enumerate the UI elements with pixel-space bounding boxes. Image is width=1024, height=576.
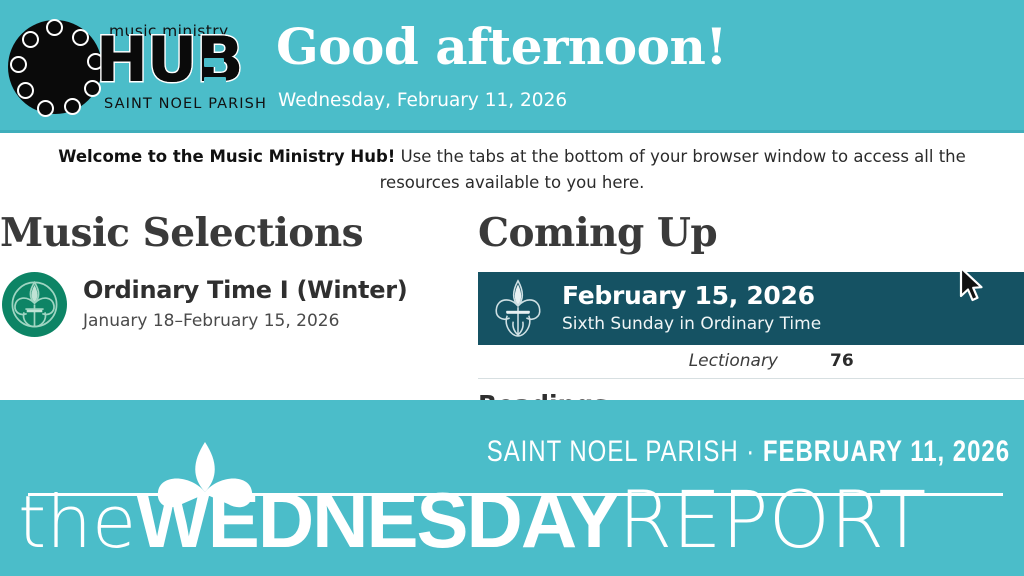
- greeting-title: Good afternoon!: [276, 18, 727, 76]
- wednesday-report-banner: SAINT NOEL PARISH · FEBRUARY 11, 2026 th…: [0, 400, 1024, 576]
- wordmark-the: the: [18, 480, 136, 564]
- table-row: Lectionary 76: [478, 345, 1024, 379]
- page-header: music ministry HUB HUB SAINT NOEL PARISH…: [0, 0, 1024, 133]
- rosary-circle-logo-icon: [8, 20, 102, 114]
- event-subtitle: Sixth Sunday in Ordinary Time: [562, 312, 821, 336]
- music-selections-title: Music Selections: [0, 210, 470, 256]
- wordmark-wednes: WEDNES: [136, 476, 466, 564]
- music-ministry-hub-page: music ministry HUB HUB SAINT NOEL PARISH…: [0, 0, 1024, 576]
- season-name: Ordinary Time I (Winter): [83, 275, 407, 305]
- coming-up-title: Coming Up: [478, 210, 1024, 256]
- fleur-de-lis-icon: [488, 276, 548, 342]
- event-date: February 15, 2026: [562, 281, 821, 311]
- wednesday-report-wordmark: theWEDNESDAYREPORT: [0, 400, 1024, 576]
- welcome-body: Use the tabs at the bottom of your brows…: [380, 147, 966, 192]
- detail-label: Lectionary: [478, 345, 806, 379]
- detail-value: 76: [806, 345, 1024, 379]
- greeting-date: Wednesday, February 11, 2026: [278, 90, 567, 111]
- upcoming-event-card[interactable]: February 15, 2026 Sixth Sunday in Ordina…: [478, 272, 1024, 345]
- event-detail-table: Lectionary 76: [478, 345, 1024, 379]
- music-selections-section: Music Selections: [0, 210, 470, 337]
- hub-logo[interactable]: music ministry HUB HUB SAINT NOEL PARISH: [4, 6, 250, 119]
- logo-parish-text: SAINT NOEL PARISH: [104, 96, 267, 112]
- wordmark-report: REPORT: [618, 476, 926, 566]
- season-dates: January 18–February 15, 2026: [83, 308, 407, 334]
- coming-up-section: Coming Up Fe: [478, 210, 1024, 379]
- hub-letter-accent-upper: [204, 58, 224, 67]
- welcome-message: Welcome to the Music Ministry Hub! Use t…: [0, 136, 1024, 196]
- fleur-de-lis-green-badge-icon: [2, 272, 67, 337]
- wordmark-day: DAY: [467, 476, 619, 564]
- welcome-lead: Welcome to the Music Ministry Hub!: [58, 147, 395, 166]
- season-row[interactable]: Ordinary Time I (Winter) January 18–Febr…: [0, 272, 470, 337]
- wordmark-text: theWEDNESDAYREPORT: [18, 478, 926, 564]
- hub-letter-accent-lower: [204, 77, 226, 86]
